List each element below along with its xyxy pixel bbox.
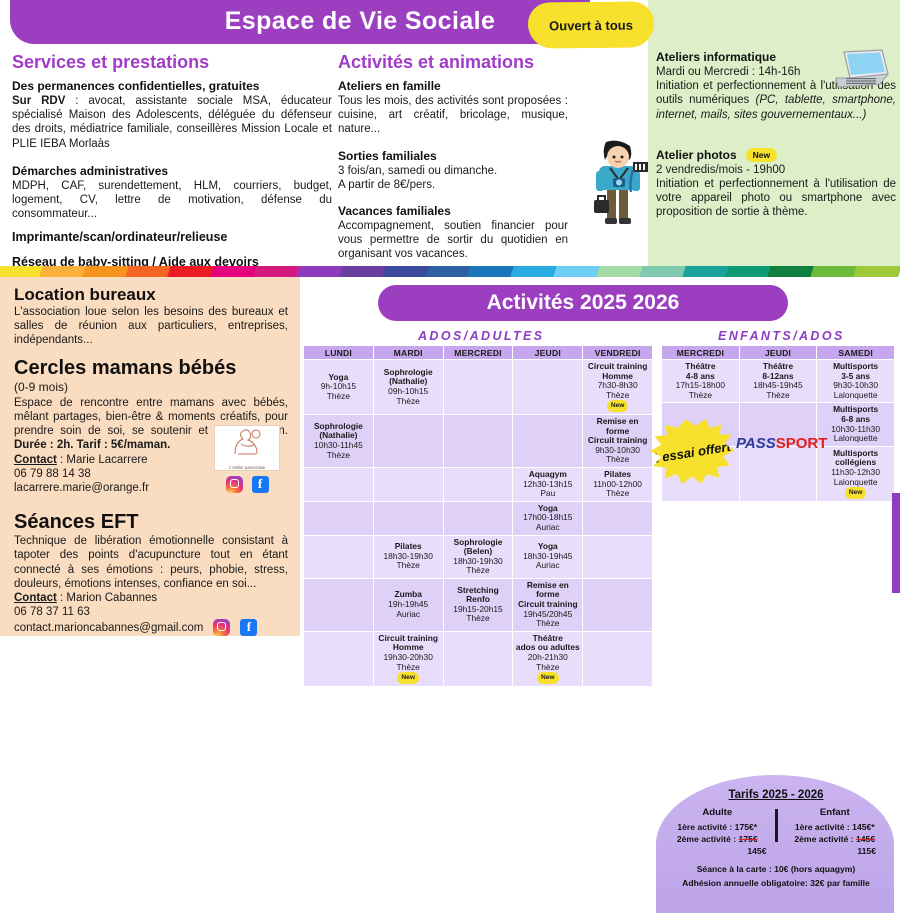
informatique-photos-column: Ateliers informatique Mardi ou Mercredi … [656, 46, 896, 220]
tarifs-adult-old-price: 175€ [739, 834, 758, 844]
sorties-block: Sorties familiales 3 fois/an, samedi ou … [338, 149, 568, 192]
tarifs-adult-header: Adulte [662, 807, 773, 818]
activity-place: Auriac [375, 610, 442, 620]
demarches-block: Démarches administratives MDPH, CAF, sur… [12, 164, 332, 222]
tarifs-adult-line2-label: 2ème activité : [677, 834, 739, 844]
table-row: Sophrologie(Nathalie)10h30-11h45ThèzeRem… [304, 414, 653, 467]
activity-name: Circuit trainingHomme [375, 634, 442, 653]
activity-place: Thèze [445, 566, 512, 576]
vacances-block: Vacances familiales Accompagnement, sout… [338, 204, 568, 262]
tarifs-adult-column: Adulte 1ère activité : 175€* 2ème activi… [662, 807, 773, 858]
essai-offert-text: 1 essai offert [650, 438, 731, 465]
sorties-line2: A partir de 8€/pers. [338, 178, 568, 192]
category-label-adults: ADOS/ADULTES [418, 329, 545, 343]
tarifs-columns: Adulte 1ère activité : 175€* 2ème activi… [662, 807, 890, 858]
tarifs-separator [775, 809, 778, 842]
activity-time: 19h30-20h30 [375, 653, 442, 663]
schedule-cell [304, 631, 374, 686]
schedule-cell [443, 360, 513, 415]
activity-place: Thèze [514, 619, 581, 629]
header-banner: Espace de Vie Sociale [10, 0, 590, 44]
activity-place: Thèze [305, 392, 372, 402]
top-section: Espace de Vie Sociale Ouvert à tous Serv… [0, 0, 900, 266]
column-header: SAMEDI [817, 346, 895, 360]
activity-place: Auriac [514, 523, 581, 533]
sorties-heading: Sorties familiales [338, 149, 568, 163]
tarifs-adult-new-price: 145€ [662, 846, 773, 856]
schedule-cell [304, 467, 374, 501]
photos-schedule: 2 vendredis/mois - 19h00 [656, 163, 896, 177]
tarifs-child-line2-label: 2ème activité : [794, 834, 856, 844]
services-title: Services et prestations [12, 52, 332, 73]
photos-new-badge: New [746, 148, 777, 162]
tarifs-adhesion: Adhésion annuelle obligatoire: 32€ par f… [662, 877, 890, 890]
laptop-icon [830, 48, 892, 95]
ouvert-a-tous-badge: Ouvert à tous [528, 1, 654, 48]
schedule-cell: StretchingRenfo19h15-20h15Thèze [443, 578, 513, 631]
tarifs-child-header: Enfant [780, 807, 891, 818]
schedule-cell: Zumba19h-19h45Auriac [373, 578, 443, 631]
tarifs-title: Tarifs 2025 - 2026 [662, 789, 890, 801]
activity-name: Multisports3-5 ans [818, 362, 893, 381]
table-row: Circuit trainingHomme19h30-20h30ThèzeNew… [304, 631, 653, 686]
permanences-block: Des permanences confidentielles, gratuit… [12, 79, 332, 151]
activity-place: Thèze [584, 489, 651, 499]
services-column: Services et prestations Des permanences … [12, 52, 332, 269]
schedule-cell: Remise en formeCircuit training19h45/20h… [513, 578, 583, 631]
photos-text: Initiation et perfectionnement à l'utili… [656, 177, 896, 220]
activity-name: Théâtre4-8 ans [663, 362, 738, 381]
cercles-subheading: (0-9 mois) [14, 380, 288, 394]
tarifs-child-line1: 1ère activité : 145€* [780, 822, 891, 832]
tarifs-child-column: Enfant 1ère activité : 145€* 2ème activi… [780, 807, 891, 858]
activity-place: Lalonquette [818, 478, 893, 488]
pass-sport-logo: PASSSPORT [736, 435, 827, 452]
activity-place: Thèze [375, 397, 442, 407]
schedule-cell [739, 446, 817, 501]
eft-contact-label: Contact [14, 592, 57, 604]
activity-place: Thèze [305, 451, 372, 461]
sur-rdv-label: Sur RDV [12, 95, 65, 107]
table-row: Théâtre4-8 ans17h15-18h00ThèzeThéâtre8-1… [662, 360, 895, 403]
schedule-cell: Sophrologie(Belen)18h30-19h30Thèze [443, 535, 513, 578]
schedule-cell [304, 501, 374, 535]
schedule-cell [304, 535, 374, 578]
cercles-contact-label: Contact [14, 454, 57, 466]
schedule-cell: Circuit trainingHomme19h30-20h30ThèzeNew [373, 631, 443, 686]
column-header: JEUDI [513, 346, 583, 360]
activites-column: Activités et animations Ateliers en fami… [338, 52, 568, 271]
cercles-contact-name: : Marie Lacarrere [57, 454, 148, 466]
activity-place: Lalonquette [818, 391, 893, 401]
bottom-section: Location bureaux L'association loue selo… [0, 277, 900, 636]
schedule-cell: Sophrologie(Nathalie)10h30-11h45Thèze [304, 414, 374, 467]
demarches-text: MDPH, CAF, surendettement, HLM, courrier… [12, 179, 332, 222]
tarifs-adult-line2: 2ème activité : 175€ [662, 834, 773, 844]
schedule-cell [443, 467, 513, 501]
activites-banner: Activités 2025 2026 [378, 285, 788, 321]
category-label-kids: ENFANTS/ADOS [718, 329, 845, 343]
activity-name: Multisports6-8 ans [818, 405, 893, 424]
schedule-cell [583, 578, 653, 631]
schedule-cell: Remise en formeCircuit training9h30-10h3… [583, 414, 653, 467]
table-row: Yoga17h00-18h15Auriac [304, 501, 653, 535]
table-row: Zumba19h-19h45AuriacStretchingRenfo19h15… [304, 578, 653, 631]
tarifs-child-new-price: 115€ [780, 846, 891, 856]
activity-time: 20h-21h30 [514, 653, 581, 663]
schedule-cell: Yoga9h-10h15Thèze [304, 360, 374, 415]
schedule-cell: Théâtreados ou adultes20h-21h30ThèzeNew [513, 631, 583, 686]
column-header: MERCREDI [443, 346, 513, 360]
column-header: MARDI [373, 346, 443, 360]
pass-text: PASS [736, 435, 776, 452]
schedule-cell [513, 414, 583, 467]
schedule-cell [373, 414, 443, 467]
eft-email[interactable]: contact.marioncabannes@gmail.com [14, 621, 203, 635]
schedule-cell [443, 414, 513, 467]
schedule-cell [443, 631, 513, 686]
activity-place: Thèze [375, 663, 442, 673]
tarifs-child-old-price: 145€ [856, 834, 875, 844]
eft-contact-name: : Marion Cabannes [57, 592, 157, 604]
cercles-text-bold: Durée : 2h. Tarif : 5€/maman. [14, 439, 170, 451]
schedule-cell: Yoga18h30-19h45Auriac [513, 535, 583, 578]
activity-name: Remise en formeCircuit training [584, 417, 651, 446]
schedule-cell: Multisportscollégiens11h30-12h30Lalonque… [817, 446, 895, 501]
page-title: Espace de Vie Sociale [10, 0, 590, 42]
logo-caption: L'Atelier parent'aise [215, 465, 279, 470]
column-header: MERCREDI [662, 346, 740, 360]
schedule-cell [583, 535, 653, 578]
facebook-icon-cercles[interactable]: f [252, 476, 269, 493]
sorties-line1: 3 fois/an, samedi ou dimanche. [338, 164, 568, 178]
cercles-heading: Cercles mamans bébés [14, 357, 288, 380]
imprimante-line: Imprimante/scan/ordinateur/relieuse [12, 230, 332, 244]
photos-heading-row: Atelier photos New [656, 148, 896, 163]
activity-name: Multisportscollégiens [818, 449, 893, 468]
schedule-cell [373, 467, 443, 501]
schedule-cell: Sophrologie(Nathalie)09h-10h15Thèze [373, 360, 443, 415]
schedule-cell [513, 360, 583, 415]
sport-text: SPORT [776, 435, 828, 452]
logo-card: L'Atelier parent'aise [214, 425, 280, 471]
activity-name: Sophrologie(Belen) [445, 538, 512, 557]
activity-name: Circuit trainingHomme [584, 362, 651, 381]
new-badge: New [845, 487, 867, 499]
eft-phone: 06 78 37 11 63 [14, 605, 288, 619]
schedule-cell [583, 631, 653, 686]
schedule-cell: Aquagym12h30-13h15Pau [513, 467, 583, 501]
activity-place: Thèze [663, 391, 738, 401]
ateliers-famille-heading: Ateliers en famille [338, 79, 568, 93]
eft-text: Technique de libération émotionnelle con… [14, 534, 288, 591]
new-badge: New [397, 672, 419, 684]
tarifs-child-line2: 2ème activité : 145€ [780, 834, 891, 844]
column-header: LUNDI [304, 346, 374, 360]
schedule-cell [373, 501, 443, 535]
schedule-cell: Multisports6-8 ans10h30-11h30Lalonquette [817, 403, 895, 446]
table-row: Aquagym12h30-13h15PauPilates11h00-12h00T… [304, 467, 653, 501]
ateliers-famille-block: Ateliers en famille Tous les mois, des a… [338, 79, 568, 137]
schedule-cell [304, 578, 374, 631]
schedule-cell: Pilates11h00-12h00Thèze [583, 467, 653, 501]
photos-block: Atelier photos New 2 vendredis/mois - 19… [656, 148, 896, 220]
activity-name: Sophrologie(Nathalie) [375, 368, 442, 387]
activity-name: Sophrologie(Nathalie) [305, 422, 372, 441]
permanences-text: Sur RDV : avocat, assistante sociale MSA… [12, 94, 332, 151]
activity-place: Thèze [375, 561, 442, 571]
vacances-text: Accompagnement, soutien financier pour v… [338, 219, 568, 262]
demarches-heading: Démarches administratives [12, 164, 332, 178]
permanences-heading: Des permanences confidentielles, gratuit… [12, 79, 332, 93]
atelier-parentaise-logo: L'Atelier parent'aise f [214, 425, 280, 493]
ateliers-famille-text: Tous les mois, des activités sont propos… [338, 94, 568, 137]
photographer-icon [588, 140, 650, 241]
activites-title: Activités et animations [338, 52, 568, 73]
cercles-social-row: f [214, 476, 280, 493]
activity-name: Théâtreados ou adultes [514, 634, 581, 653]
activity-place: Thèze [445, 614, 512, 624]
activity-place: Lalonquette [818, 434, 893, 444]
schedule-cell [443, 501, 513, 535]
schedule-cell: Théâtre4-8 ans17h15-18h00Thèze [662, 360, 740, 403]
new-badge: New [537, 672, 559, 684]
tarifs-adult-line1: 1ère activité : 175€* [662, 822, 773, 832]
rainbow-divider [0, 266, 900, 277]
instagram-icon-cercles[interactable] [226, 476, 243, 493]
location-heading: Location bureaux [14, 285, 288, 305]
tarifs-content: Tarifs 2025 - 2026 Adulte 1ère activité … [662, 789, 890, 890]
activity-place: Thèze [584, 455, 651, 465]
eft-contact-row: Contact : Marion Cabannes [14, 591, 288, 605]
table-row: Pilates18h30-19h30ThèzeSophrologie(Belen… [304, 535, 653, 578]
activity-place: Thèze [741, 391, 816, 401]
photos-heading: Atelier photos [656, 148, 737, 162]
facebook-icon-eft[interactable]: f [240, 619, 257, 636]
instagram-icon-eft[interactable] [213, 619, 230, 636]
schedule-cell: Circuit trainingHomme7h30-8h30ThèzeNew [583, 360, 653, 415]
activity-place: Auriac [514, 561, 581, 571]
schedule-cell: Théâtre8-12ans18h45-19h45Thèze [739, 360, 817, 403]
activity-name: StretchingRenfo [445, 586, 512, 605]
new-badge: New [607, 400, 629, 412]
activity-place: Thèze [514, 663, 581, 673]
purple-edge-accent [892, 493, 900, 593]
eft-email-row: contact.marioncabannes@gmail.com f [14, 619, 288, 636]
activity-place: Thèze [584, 391, 651, 401]
vacances-heading: Vacances familiales [338, 204, 568, 218]
activity-name: Remise en formeCircuit training [514, 581, 581, 610]
column-header: JEUDI [739, 346, 817, 360]
location-text: L'association loue selon les besoins des… [14, 305, 288, 348]
column-header: VENDREDI [583, 346, 653, 360]
schedule-cell: Yoga17h00-18h15Auriac [513, 501, 583, 535]
table-row: Yoga9h-10h15ThèzeSophrologie(Nathalie)09… [304, 360, 653, 415]
schedule-cell [583, 501, 653, 535]
tarifs-seance: Séance à la carte : 10€ (hors aquagym) [662, 863, 890, 876]
schedule-cell: Pilates18h30-19h30Thèze [373, 535, 443, 578]
activity-name: Théâtre8-12ans [741, 362, 816, 381]
schedule-cell: Multisports3-5 ans9h30-10h30Lalonquette [817, 360, 895, 403]
eft-heading: Séances EFT [14, 511, 288, 534]
activity-place: Pau [514, 489, 581, 499]
